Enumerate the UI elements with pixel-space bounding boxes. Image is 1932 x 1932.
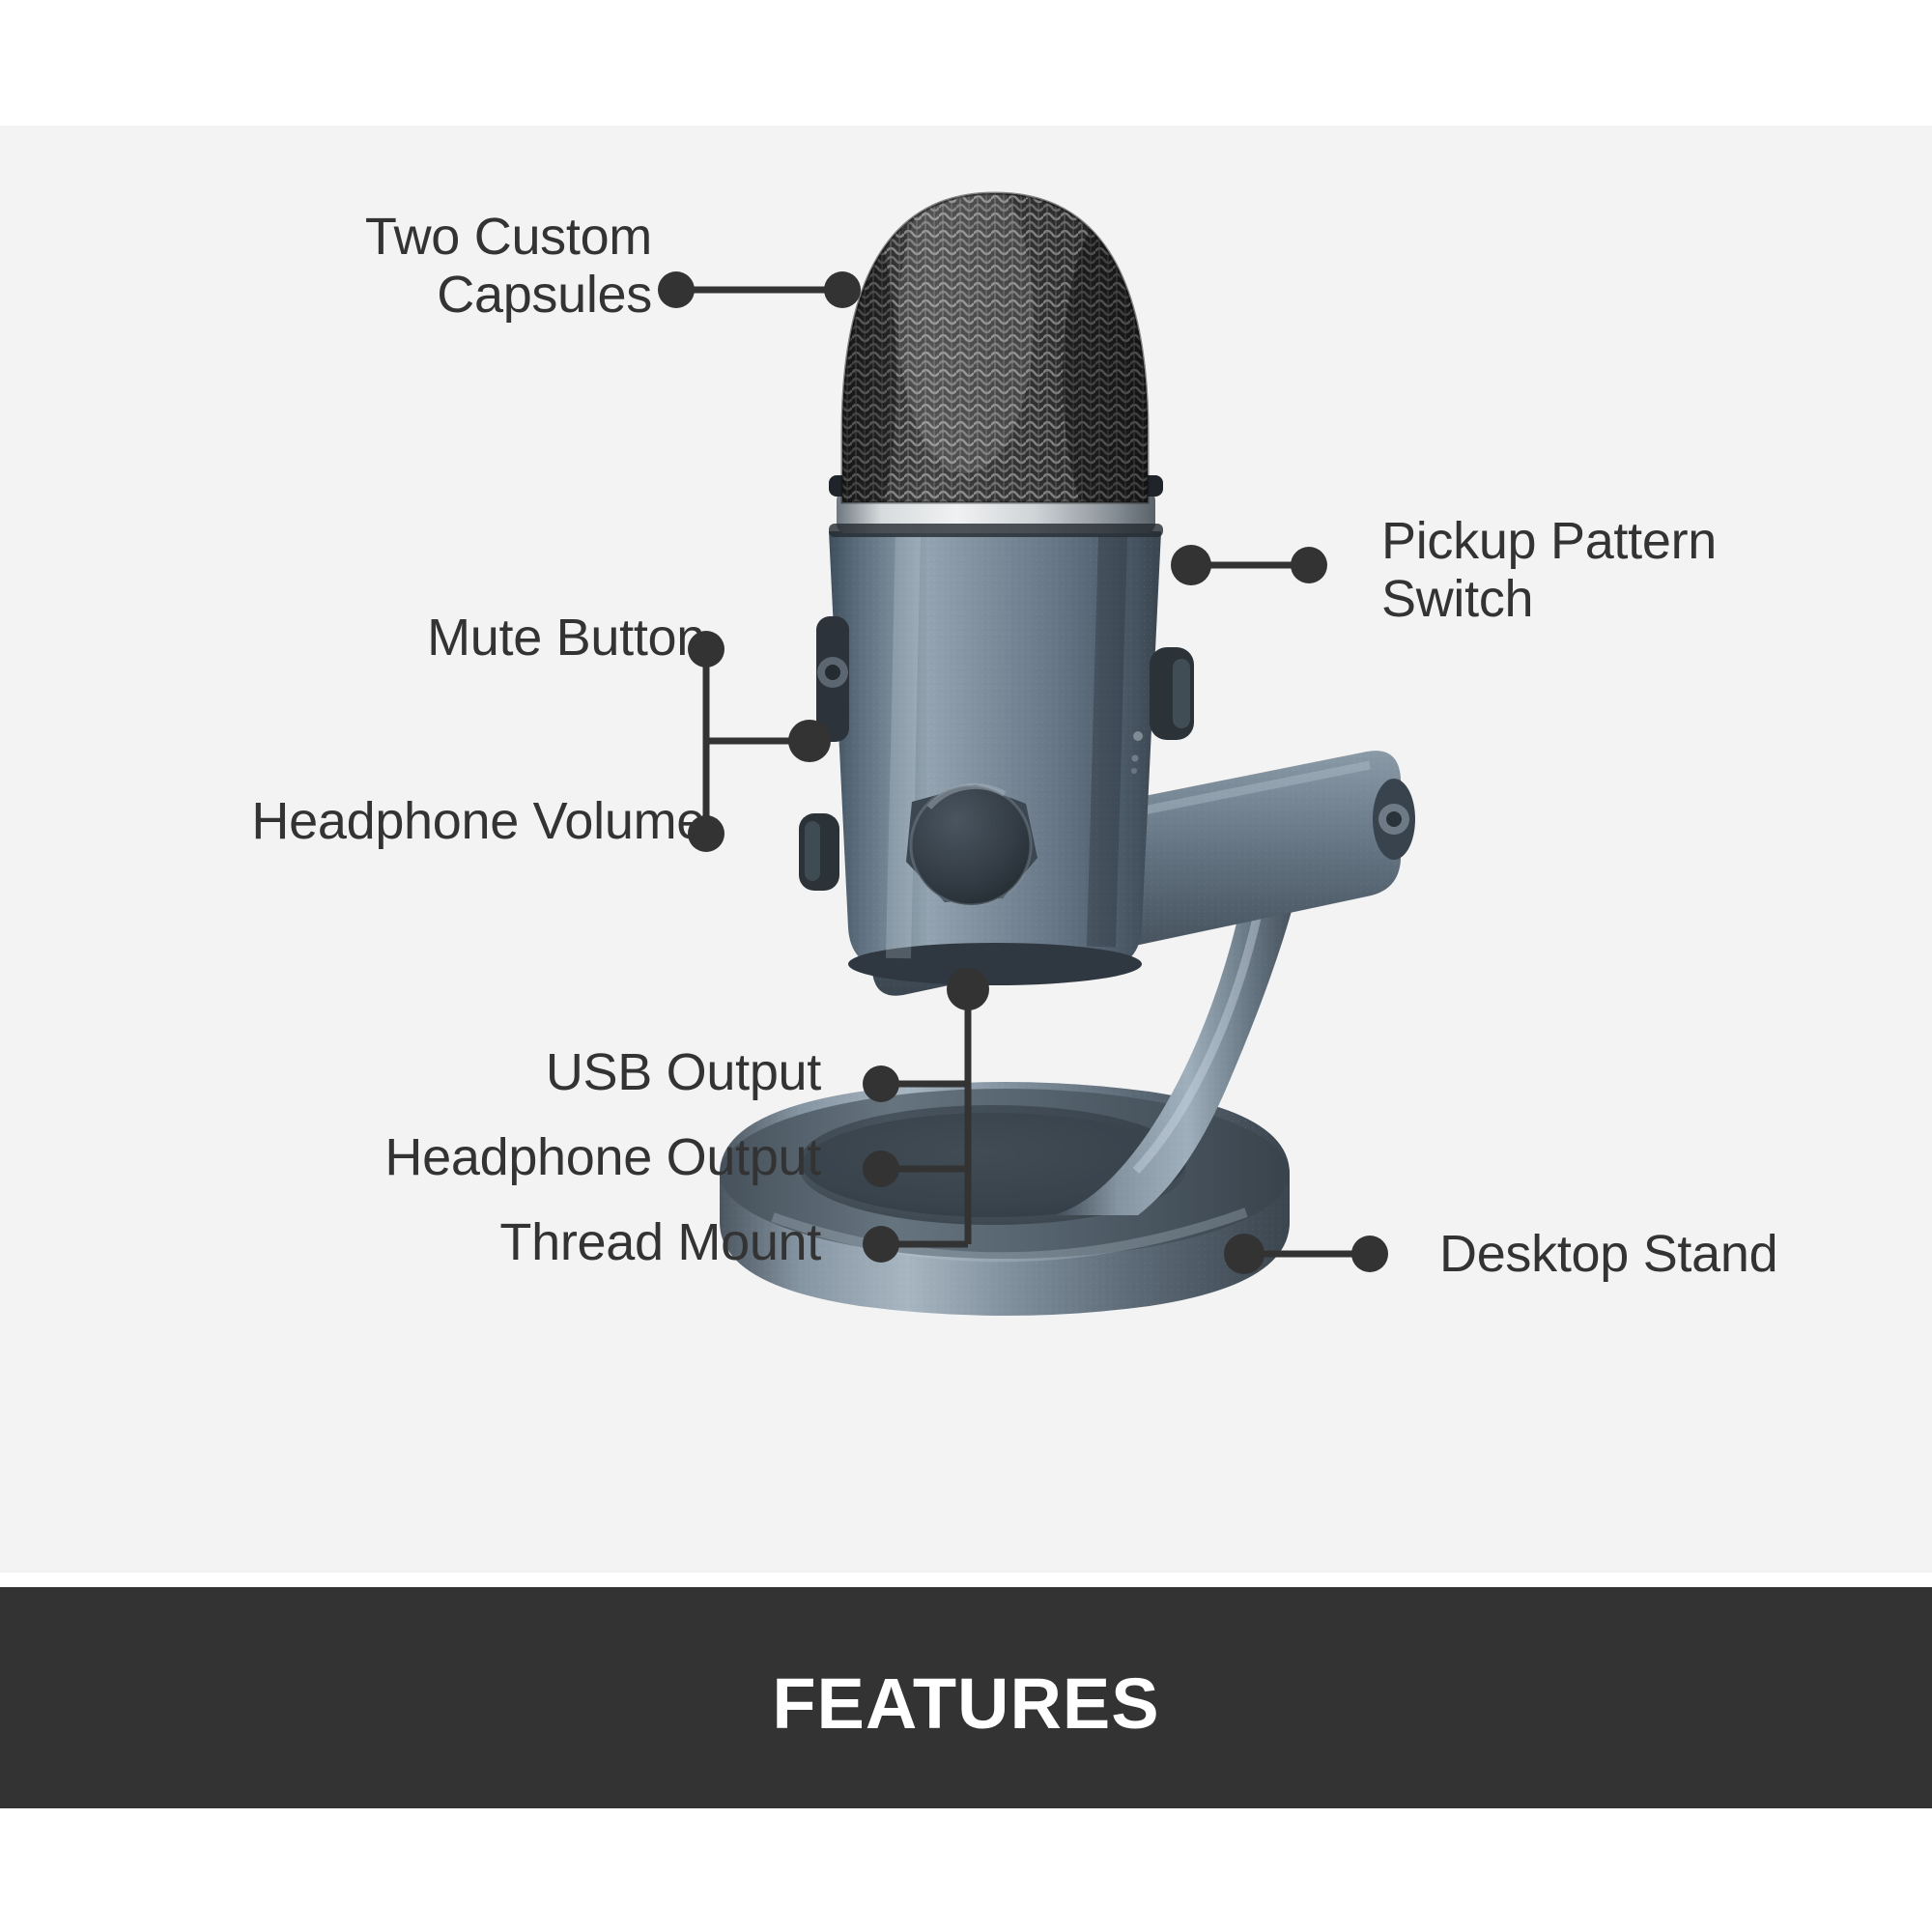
mute-button[interactable] bbox=[799, 813, 839, 891]
callout-usb-output: USB Output bbox=[280, 1043, 821, 1101]
status-led bbox=[1133, 731, 1143, 741]
product-feature-diagram: Two Custom Capsules Mute Button Headphon… bbox=[0, 0, 1932, 1932]
microphone-grille bbox=[815, 164, 1179, 551]
features-banner: FEATURES bbox=[0, 1587, 1932, 1808]
callout-two-custom-capsules: Two Custom Capsules bbox=[237, 208, 652, 325]
leader-desktop-stand bbox=[1224, 1234, 1388, 1274]
callout-headphone-volume: Headphone Volume bbox=[68, 792, 705, 850]
callout-thread-mount: Thread Mount bbox=[280, 1213, 821, 1271]
features-banner-title: FEATURES bbox=[772, 1668, 1159, 1740]
headphone-volume-dial[interactable] bbox=[816, 616, 849, 742]
callout-desktop-stand: Desktop Stand bbox=[1439, 1225, 1922, 1283]
microphone-body bbox=[799, 475, 1194, 985]
leader-pickup-pattern-switch bbox=[1171, 545, 1327, 585]
callout-mute-button: Mute Button bbox=[290, 609, 705, 667]
callout-pickup-pattern-switch: Pickup Pattern Switch bbox=[1381, 512, 1932, 629]
leader-two-custom-capsules bbox=[658, 271, 861, 308]
callout-headphone-output: Headphone Output bbox=[222, 1128, 821, 1186]
pickup-pattern-switch[interactable] bbox=[1150, 647, 1194, 740]
